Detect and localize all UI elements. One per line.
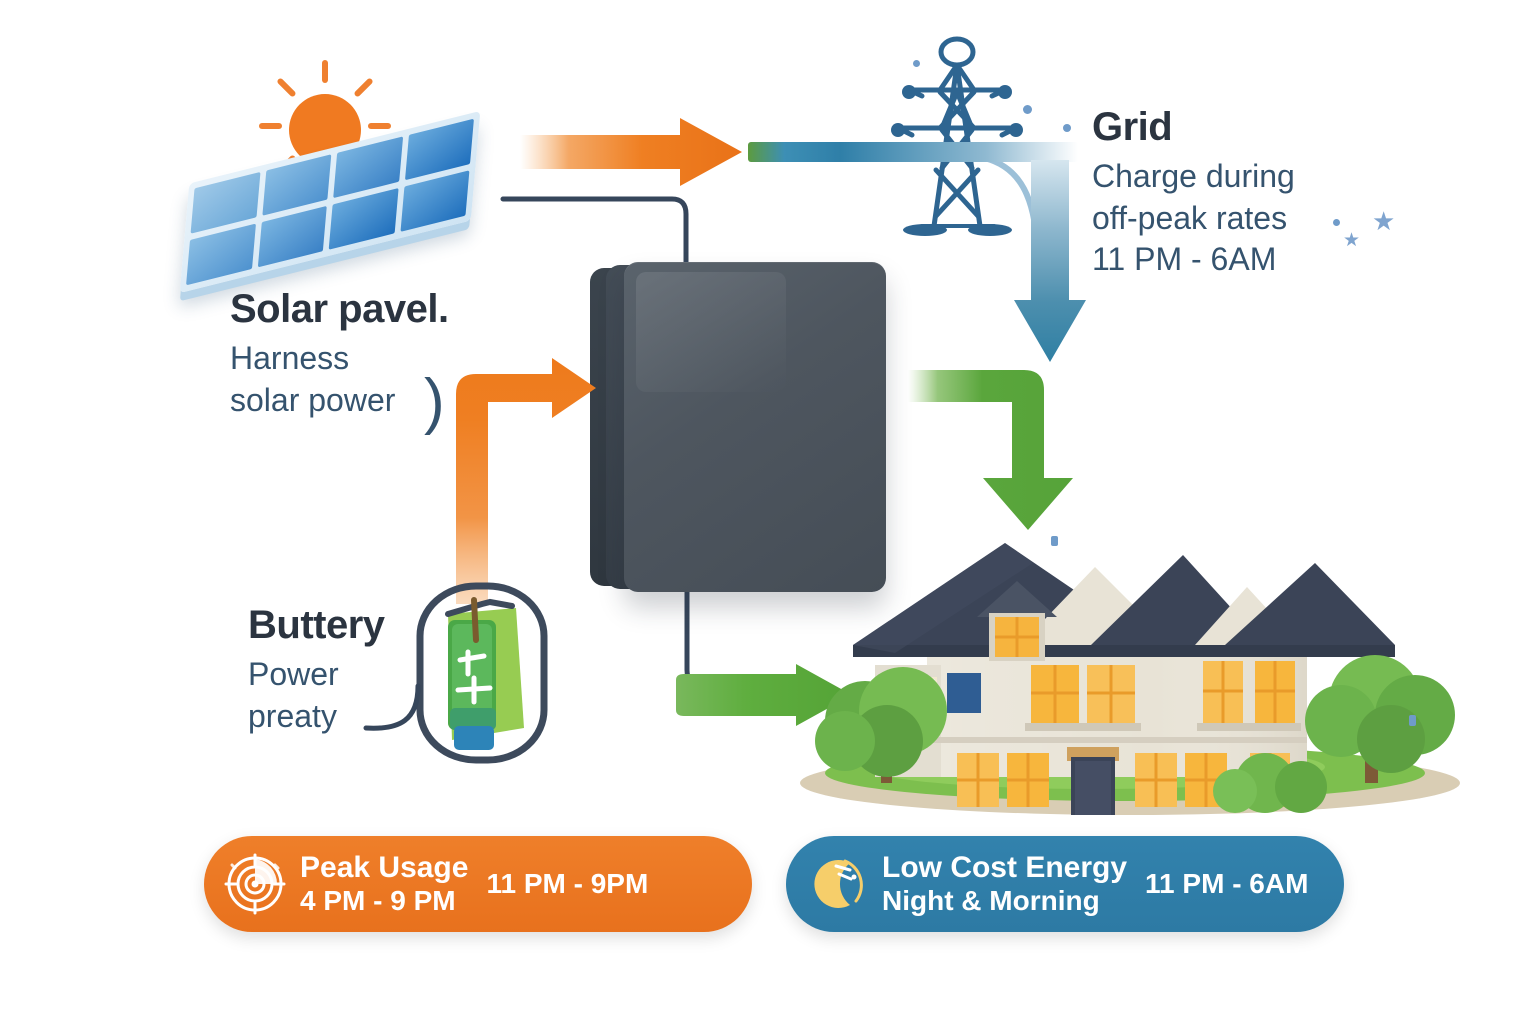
sparkle-dot-icon bbox=[1333, 219, 1340, 226]
battery-label: Buttery Power preaty bbox=[248, 604, 385, 737]
sparkle-star-icon: ★ bbox=[1343, 229, 1360, 252]
low-cost-energy-subtitle: Night & Morning bbox=[882, 885, 1127, 916]
low-cost-energy-texts: Low Cost Energy Night & Morning bbox=[882, 852, 1127, 916]
peak-usage-pill[interactable]: Peak Usage 4 PM - 9 PM 11 PM - 9PM bbox=[204, 836, 752, 932]
solar-cell bbox=[400, 170, 469, 232]
peak-usage-texts: Peak Usage 4 PM - 9 PM bbox=[300, 852, 468, 916]
sparkle-dot-icon bbox=[913, 60, 920, 67]
sparkle-dot-icon bbox=[1051, 536, 1058, 546]
solar-label: Solar pavel. Harness solar power bbox=[230, 288, 449, 421]
solar-cell bbox=[329, 188, 398, 250]
solar-to-grid-arrow bbox=[520, 118, 750, 188]
infographic-canvas: Solar pavel. Harness solar power ) bbox=[0, 0, 1536, 1024]
sparkle-dot-icon bbox=[1409, 715, 1416, 726]
solar-cell bbox=[186, 224, 255, 286]
sun-ray bbox=[259, 123, 282, 129]
house-icon bbox=[795, 525, 1465, 820]
crescent-moon-icon bbox=[806, 853, 868, 915]
peak-usage-subtitle: 4 PM - 9 PM bbox=[300, 885, 468, 916]
peak-usage-title: Peak Usage bbox=[300, 852, 468, 884]
grid-subtitle: Charge during off-peak rates 11 PM - 6AM bbox=[1092, 156, 1295, 281]
grid-to-home-arrow bbox=[908, 360, 1108, 532]
sun-ray bbox=[353, 77, 374, 98]
solar-title: Solar pavel. bbox=[230, 288, 449, 330]
battery-title: Buttery bbox=[248, 604, 385, 646]
sun-ray bbox=[322, 60, 328, 83]
sun-ray bbox=[368, 123, 391, 129]
grid-feed-bar bbox=[748, 142, 1078, 162]
sparkle-star-icon: ★ bbox=[1372, 206, 1395, 237]
low-cost-energy-title: Low Cost Energy bbox=[882, 852, 1127, 884]
clock-radar-icon bbox=[224, 853, 286, 915]
grid-label: Grid Charge during off-peak rates 11 PM … bbox=[1092, 106, 1295, 281]
low-cost-energy-time: 11 PM - 6AM bbox=[1145, 868, 1308, 900]
sparkle-dot-icon bbox=[1023, 105, 1032, 114]
grid-title: Grid bbox=[1092, 106, 1295, 148]
sparkle-dot-icon bbox=[1063, 124, 1071, 132]
battery-subtitle: Power preaty bbox=[248, 654, 385, 737]
peak-usage-time: 11 PM - 9PM bbox=[486, 868, 648, 900]
grid-to-storage-arrow bbox=[1012, 160, 1088, 366]
solar-subtitle: Harness solar power bbox=[230, 338, 449, 421]
battery-to-storage-arrow bbox=[440, 358, 600, 608]
sun-ray bbox=[276, 77, 297, 98]
unit-gloss bbox=[636, 272, 786, 392]
low-cost-energy-pill[interactable]: Low Cost Energy Night & Morning 11 PM - … bbox=[786, 836, 1344, 932]
green-battery-icon bbox=[412, 578, 552, 773]
solar-cell bbox=[257, 206, 326, 268]
